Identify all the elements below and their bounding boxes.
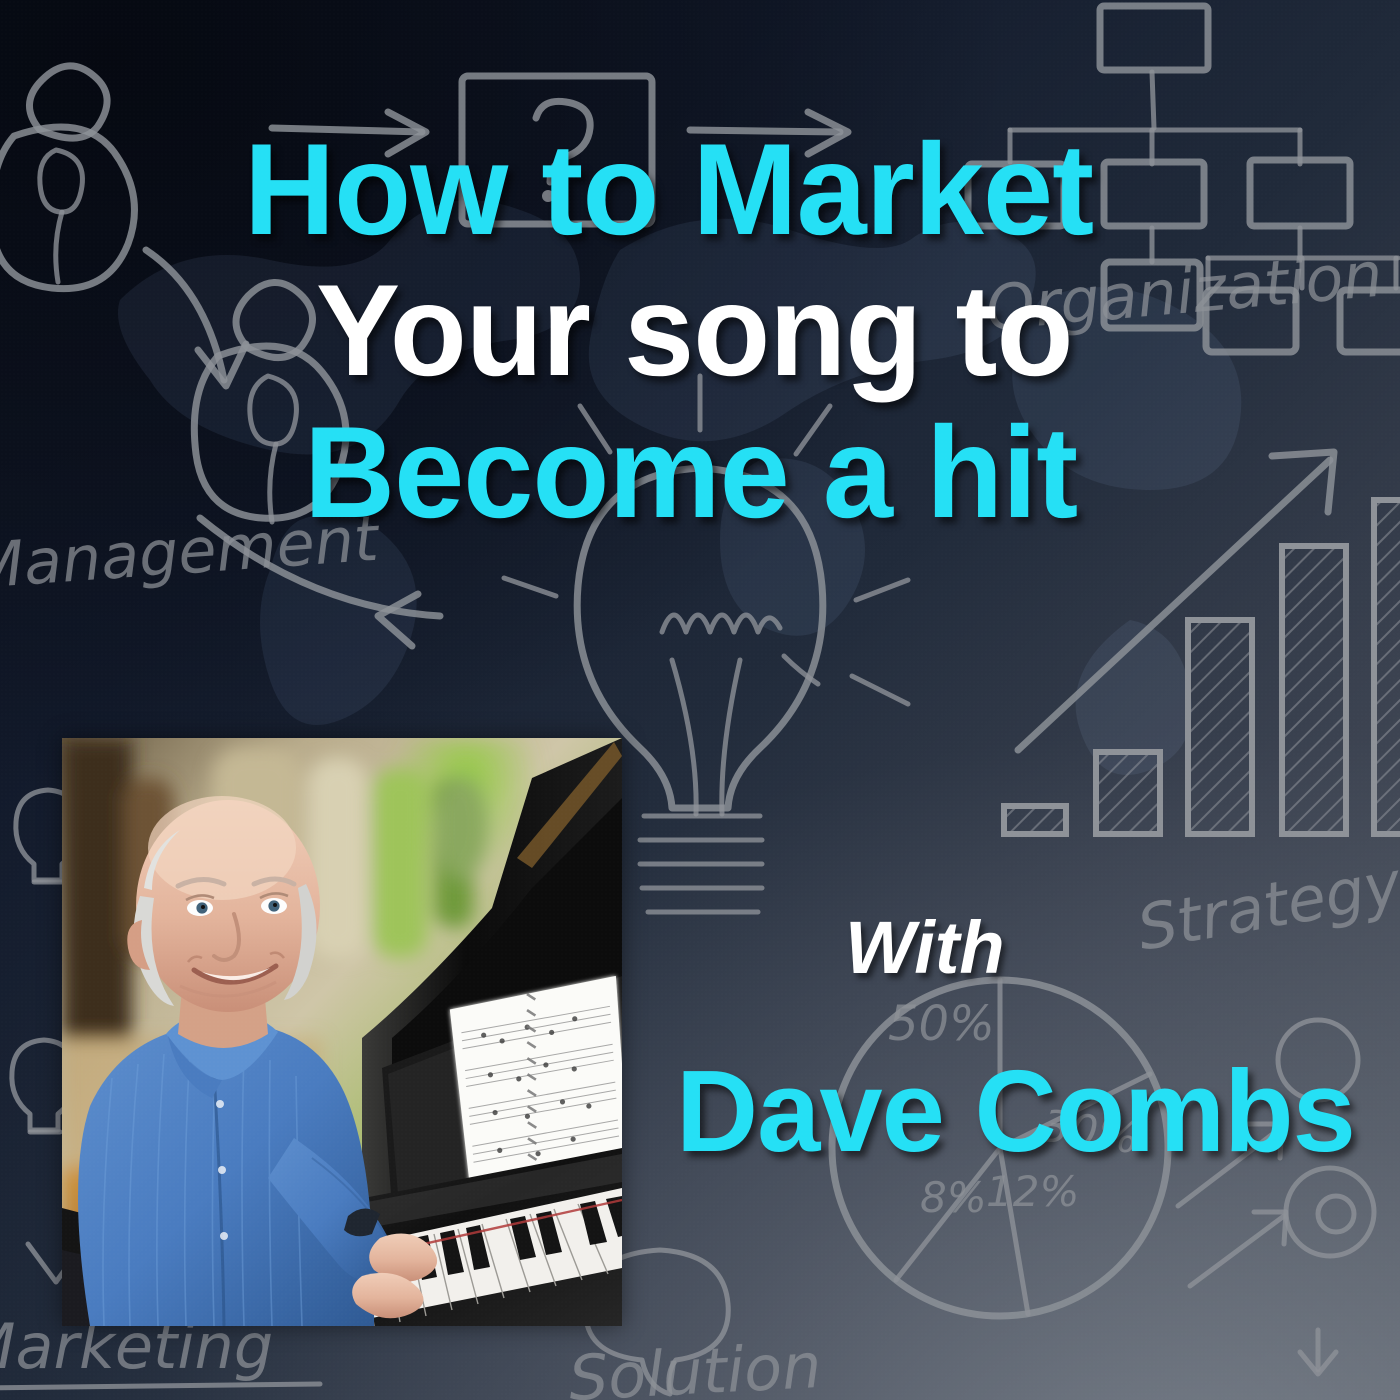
podcast-cover-art: .ck { fill:none; stroke:#8e9298; stroke-… xyxy=(0,0,1400,1400)
presenter-photo xyxy=(62,738,622,1326)
curved-arrow-icon xyxy=(146,250,246,386)
with-label: With xyxy=(845,905,1005,990)
person-icon xyxy=(0,66,134,289)
presenter-name: Dave Combs xyxy=(676,1044,1355,1178)
title-line-2: Your song to xyxy=(316,267,1333,394)
title-line-1: How to Market xyxy=(244,126,1330,253)
doodle-word-solution: Solution xyxy=(567,1329,823,1400)
doodle-word-strategy: Strategy xyxy=(1132,847,1400,965)
pie-label-8: 8% xyxy=(920,1173,987,1222)
title-line-3: Become a hit xyxy=(304,409,1332,536)
headline-block: How to Market Your song to Become a hit xyxy=(244,126,1364,550)
